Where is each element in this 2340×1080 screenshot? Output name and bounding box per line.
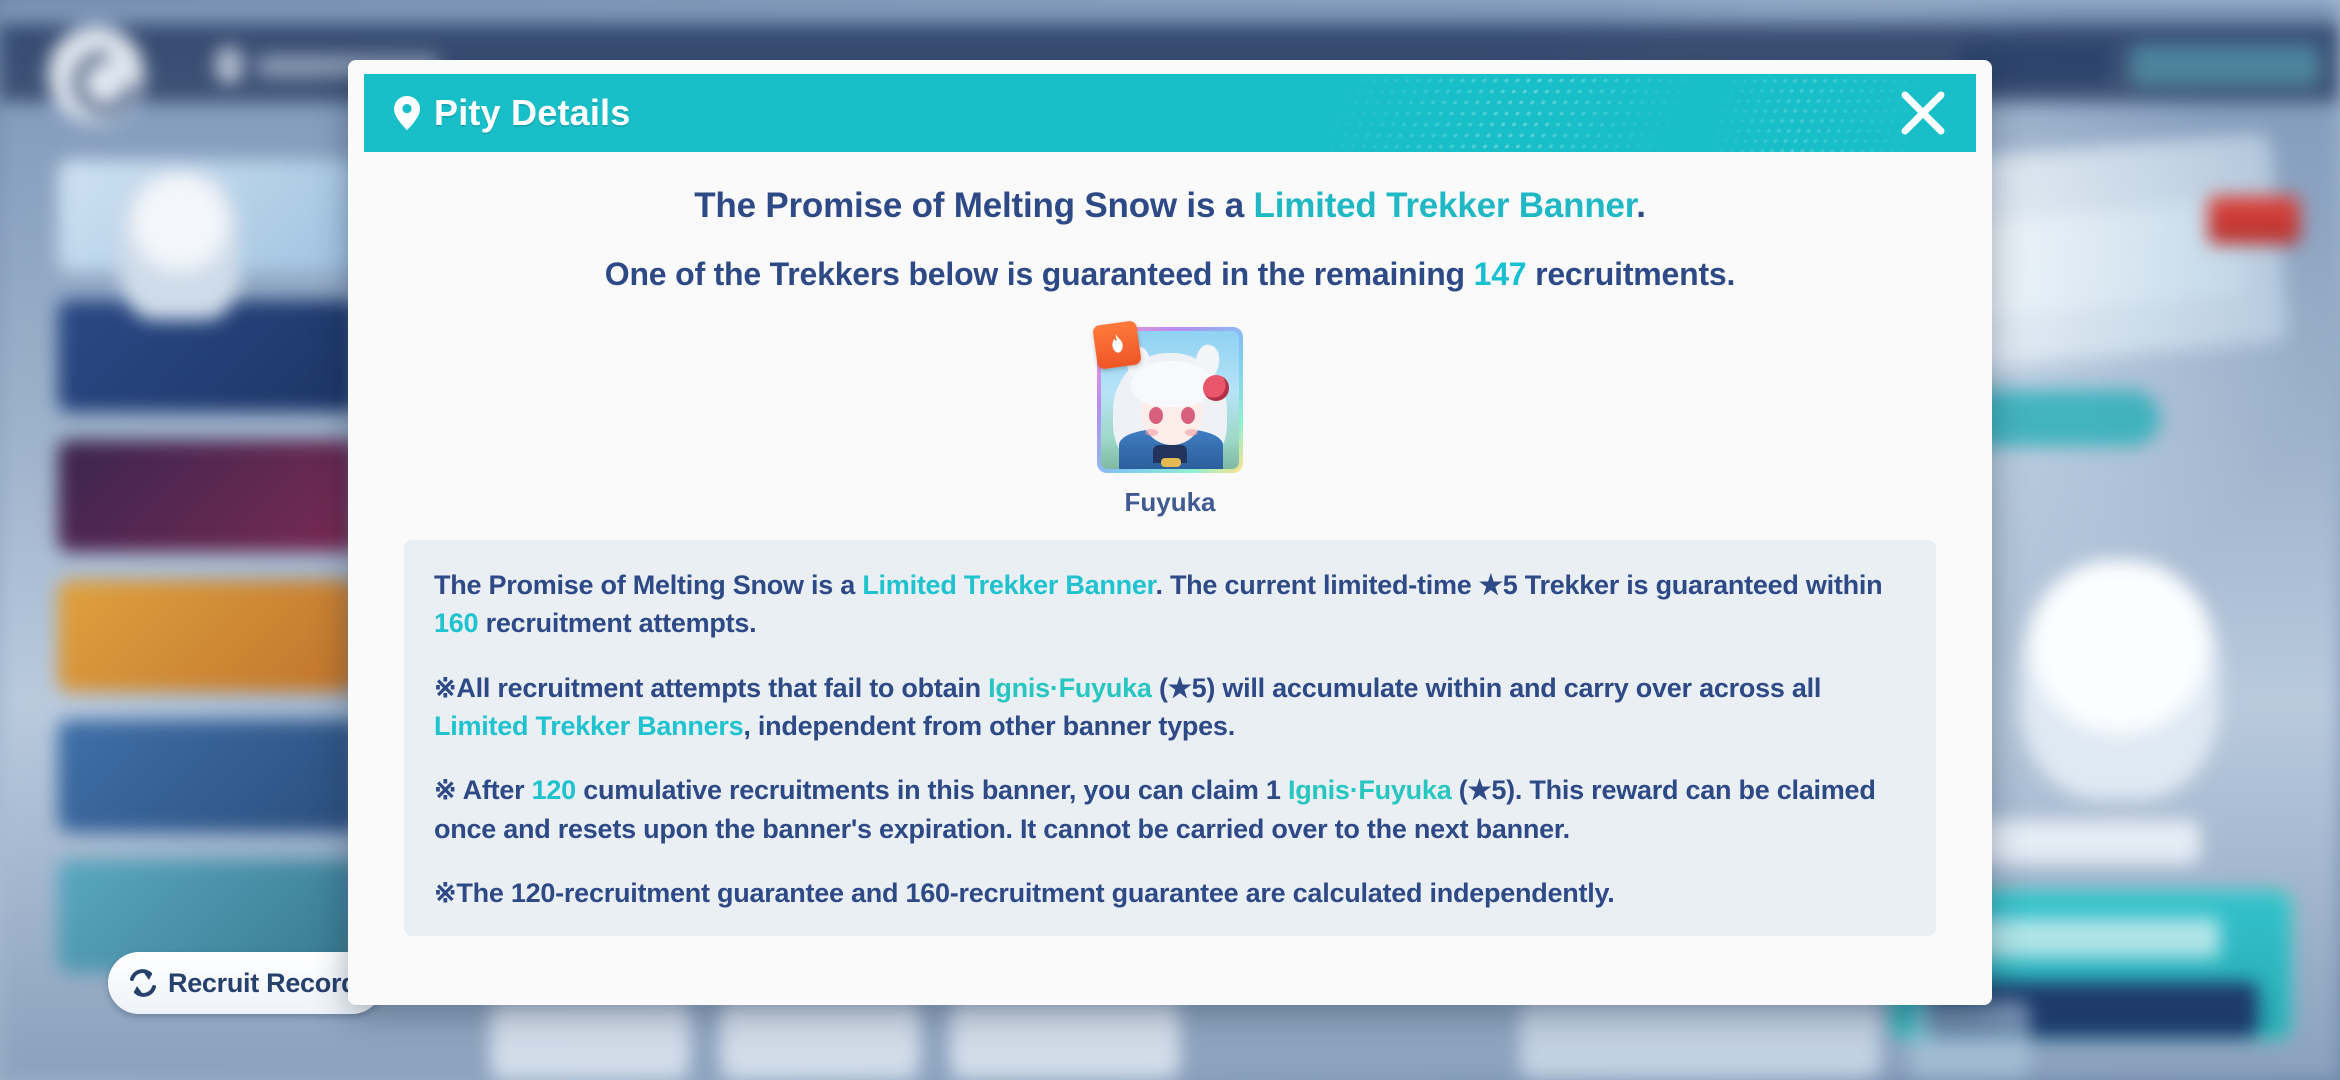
character-blush-right	[1185, 429, 1198, 436]
bottom-tab[interactable]	[1520, 1000, 1880, 1080]
p2-text-c: (★5) will accumulate within and carry ov…	[1152, 673, 1821, 703]
character-card[interactable]	[1097, 327, 1243, 473]
p2-character-name: Ignis·Fuyuka	[988, 673, 1152, 703]
p3-text-c: cumulative recruitments in this banner, …	[576, 775, 1288, 805]
remaining-count: 147	[1474, 256, 1527, 292]
character-ornament	[1161, 458, 1181, 467]
character-blush-left	[1145, 429, 1158, 436]
banner-new-tag	[2208, 196, 2300, 244]
banner-list-item[interactable]	[58, 440, 358, 552]
banner-chibi-art	[120, 170, 240, 320]
rule-paragraph-2: ※All recruitment attempts that fail to o…	[434, 669, 1906, 746]
banner-character-art	[2020, 560, 2220, 800]
character-eye-left	[1149, 407, 1163, 424]
pity-details-dialog: Pity Details The Promise of Melting Snow…	[348, 60, 1992, 1005]
bottom-tab[interactable]	[720, 1000, 920, 1080]
topbar-ticket-chip[interactable]	[2130, 44, 2320, 86]
p1-text-a: The Promise of Melting Snow is a	[434, 570, 862, 600]
p2-banner-type: Limited Trekker Banners	[434, 711, 743, 741]
bottom-tab[interactable]	[1910, 1000, 2030, 1080]
recruit-x10-label	[1970, 918, 2220, 958]
headline-accent: Limited Trekker Banner	[1254, 186, 1637, 225]
back-button[interactable]	[48, 26, 144, 122]
headline-suffix: .	[1636, 186, 1646, 225]
p4-text: ※The 120-recruitment guarantee and 160-r…	[434, 878, 1615, 908]
rule-paragraph-4: ※The 120-recruitment guarantee and 160-r…	[434, 874, 1906, 912]
headline: The Promise of Melting Snow is a Limited…	[694, 186, 1646, 226]
rule-paragraph-1: The Promise of Melting Snow is a Limited…	[434, 566, 1906, 643]
map-pin-icon	[394, 96, 420, 130]
subline: One of the Trekkers below is guaranteed …	[605, 256, 1735, 293]
p3-character-name: Ignis·Fuyuka	[1288, 775, 1452, 805]
p2-text-a: ※All recruitment attempts that fail to o…	[434, 673, 988, 703]
recruit-history-icon	[126, 966, 160, 1000]
pity-rules-panel: The Promise of Melting Snow is a Limited…	[404, 540, 1936, 936]
recruit-record-label: Recruit Record	[168, 968, 357, 999]
bottom-tab[interactable]	[950, 1000, 1180, 1080]
game-screen: Recruit Record Pity Details The Pro	[0, 0, 2340, 1080]
p2-text-e: , independent from other banner types.	[743, 711, 1235, 741]
dialog-title: Pity Details	[434, 92, 630, 134]
p3-threshold-count: 120	[532, 775, 576, 805]
dialog-body: The Promise of Melting Snow is a Limited…	[364, 152, 1976, 989]
recruit-record-button[interactable]: Recruit Record	[108, 952, 383, 1014]
character-fringe	[1131, 361, 1213, 407]
rule-paragraph-3: ※ After 120 cumulative recruitments in t…	[434, 771, 1906, 848]
dialog-header: Pity Details	[364, 74, 1976, 152]
subline-prefix: One of the Trekkers below is guaranteed …	[605, 256, 1474, 292]
featured-character[interactable]: Fuyuka	[1097, 327, 1243, 518]
character-eye-right	[1181, 407, 1195, 424]
p1-guarantee-count: 160	[434, 608, 478, 638]
banner-list-item[interactable]	[58, 580, 358, 692]
p1-banner-type: Limited Trekker Banner	[862, 570, 1155, 600]
fire-element-icon	[1092, 320, 1142, 370]
subline-suffix: recruitments.	[1526, 256, 1735, 292]
p1-text-e: recruitment attempts.	[478, 608, 756, 638]
bottom-tab[interactable]	[490, 1000, 690, 1080]
character-name: Fuyuka	[1124, 487, 1215, 518]
close-icon[interactable]	[1896, 86, 1950, 140]
headline-prefix: The Promise of Melting Snow is a	[694, 186, 1253, 225]
character-hair-flower	[1203, 375, 1229, 401]
p1-text-c: . The current limited-time ★5 Trekker is…	[1155, 570, 1882, 600]
halftone-pattern	[1320, 74, 1692, 152]
p3-text-a: ※ After	[434, 775, 532, 805]
banner-list-item[interactable]	[58, 720, 358, 832]
